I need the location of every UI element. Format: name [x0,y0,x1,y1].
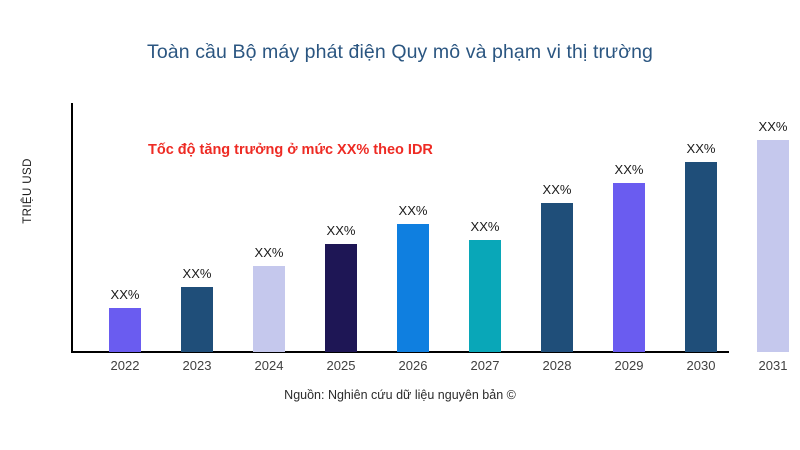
bar-rect[interactable] [181,287,213,352]
x-tick-2026: 2026 [377,358,449,373]
bar-value-label-2029: XX% [593,162,665,177]
x-tick-2031: 2031 [737,358,800,373]
bar-rect[interactable] [109,308,141,352]
bar-value-label-2031: XX% [737,119,800,134]
x-tick-2030: 2030 [665,358,737,373]
bars-layer: XX%2022XX%2023XX%2024XX%2025XX%2026XX%20… [0,0,800,450]
x-tick-2029: 2029 [593,358,665,373]
bar-2025[interactable] [305,244,377,352]
bar-value-label-2022: XX% [89,287,161,302]
bar-2030[interactable] [665,162,737,352]
bar-2022[interactable] [89,308,161,352]
bar-rect[interactable] [253,266,285,352]
bar-value-label-2028: XX% [521,182,593,197]
bar-value-label-2030: XX% [665,141,737,156]
bar-rect[interactable] [469,240,501,352]
x-tick-2023: 2023 [161,358,233,373]
bar-rect[interactable] [325,244,357,352]
x-tick-2028: 2028 [521,358,593,373]
bar-value-label-2027: XX% [449,219,521,234]
bar-2029[interactable] [593,183,665,352]
bar-value-label-2025: XX% [305,223,377,238]
bar-rect[interactable] [613,183,645,352]
bar-rect[interactable] [541,203,573,352]
bar-2028[interactable] [521,203,593,352]
bar-2023[interactable] [161,287,233,352]
source-note: Nguồn: Nghiên cứu dữ liệu nguyên bản © [0,388,800,402]
bar-value-label-2024: XX% [233,245,305,260]
x-tick-2027: 2027 [449,358,521,373]
bar-value-label-2026: XX% [377,203,449,218]
bar-2024[interactable] [233,266,305,352]
bar-value-label-2023: XX% [161,266,233,281]
bar-2026[interactable] [377,224,449,352]
bar-chart: Toàn cầu Bộ máy phát điện Quy mô và phạm… [0,0,800,450]
x-tick-2025: 2025 [305,358,377,373]
bar-rect[interactable] [397,224,429,352]
bar-rect[interactable] [757,140,789,352]
bar-rect[interactable] [685,162,717,352]
bar-2031[interactable] [737,140,800,352]
x-tick-2022: 2022 [89,358,161,373]
x-tick-2024: 2024 [233,358,305,373]
bar-2027[interactable] [449,240,521,352]
